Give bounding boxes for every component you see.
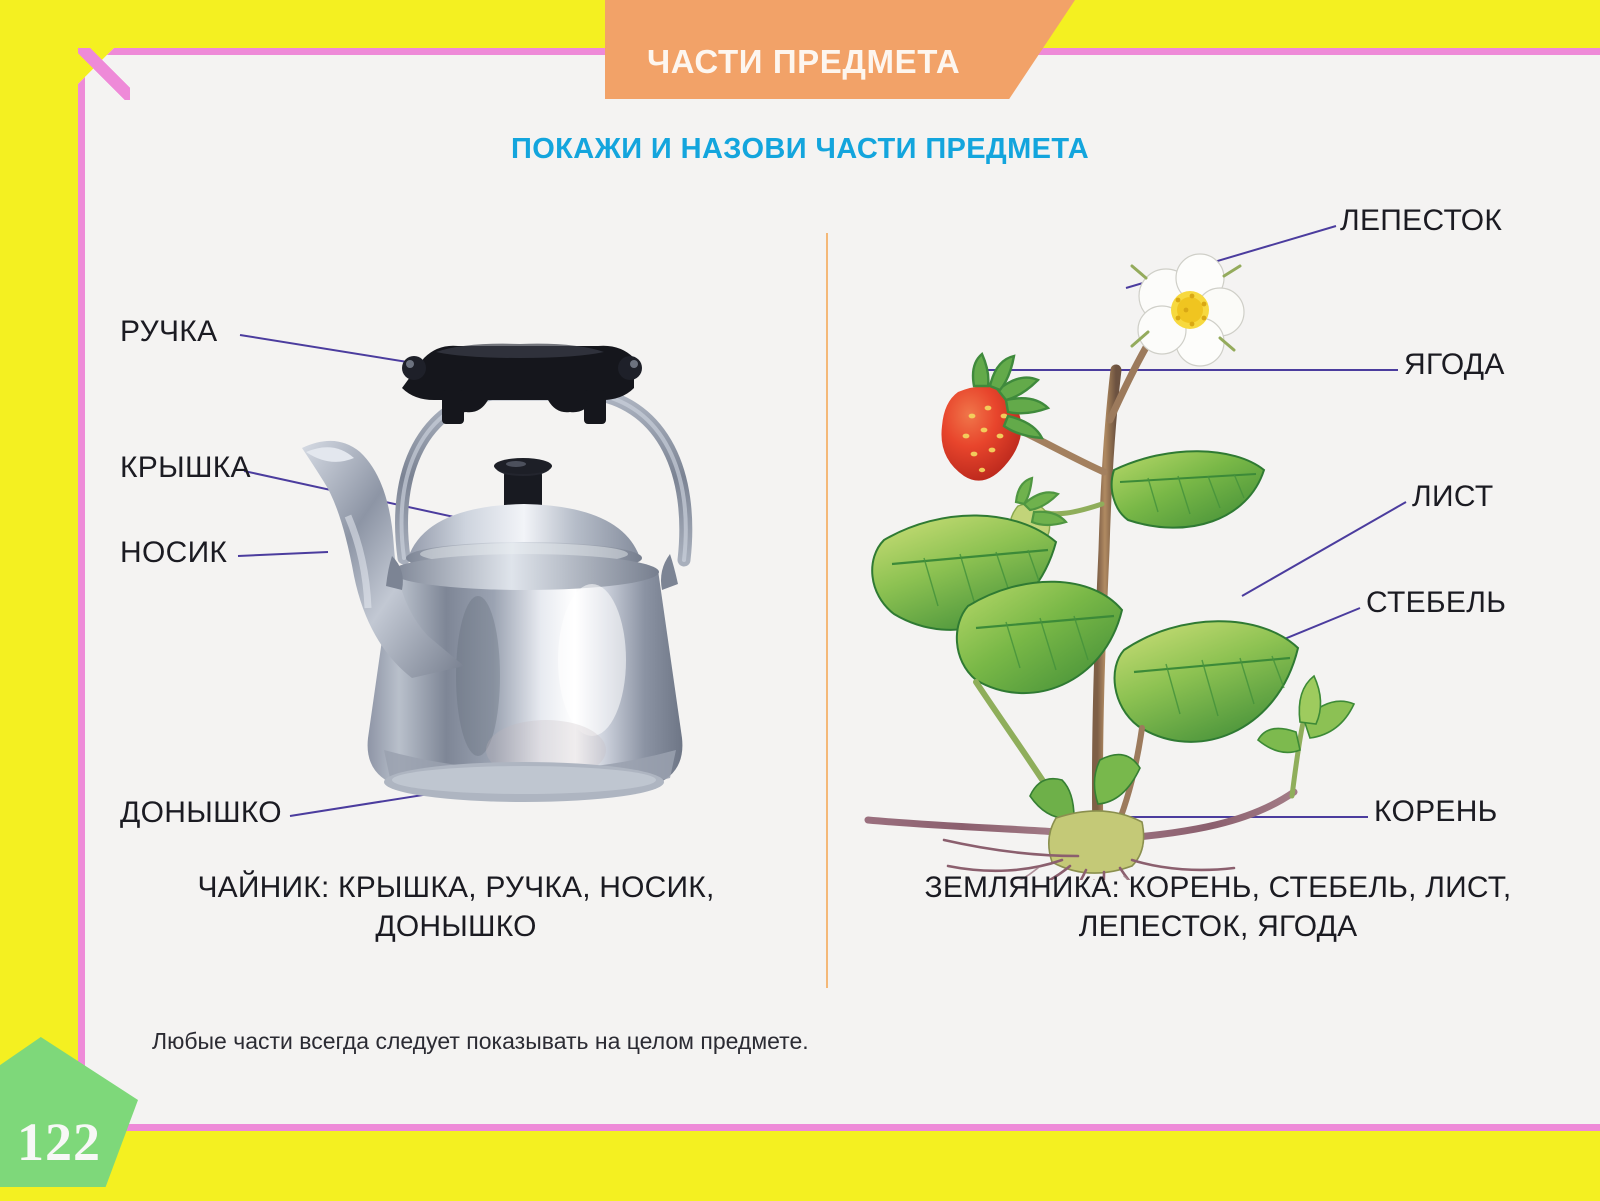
label-stem: СТЕБЕЛЬ <box>1366 586 1506 620</box>
page-subtitle: ПОКАЖИ И НАЗОВИ ЧАСТИ ПРЕДМЕТА <box>0 133 1600 166</box>
strawberry-illustration <box>848 220 1368 880</box>
kettle-caption-line2: ДОНЫШКО <box>96 907 816 946</box>
label-root: КОРЕНЬ <box>1374 795 1498 829</box>
corner-chamfer-line <box>78 48 130 100</box>
footnote-text: Любые части всегда следует показывать на… <box>152 1028 809 1055</box>
header-banner: ЧАСТИ ПРЕДМЕТА <box>605 0 1075 99</box>
label-leaf: ЛИСТ <box>1412 480 1493 514</box>
berry <box>941 354 1048 481</box>
panel-divider <box>826 233 828 988</box>
label-lid: КРЫШКА <box>120 451 251 485</box>
label-berry: ЯГОДА <box>1404 348 1505 382</box>
kettle-caption-line1: ЧАЙНИК: КРЫШКА, РУЧКА, НОСИК, <box>96 868 816 907</box>
plant-caption: ЗЕМЛЯНИКА: КОРЕНЬ, СТЕБЕЛЬ, ЛИСТ, ЛЕПЕСТ… <box>838 868 1598 946</box>
label-spout: НОСИК <box>120 536 227 570</box>
kettle-illustration <box>296 320 776 840</box>
page-background: ЧАСТИ ПРЕДМЕТА ПОКАЖИ И НАЗОВИ ЧАСТИ ПРЕ… <box>0 0 1600 1201</box>
page-number: 122 <box>0 1111 101 1187</box>
label-petal: ЛЕПЕСТОК <box>1340 204 1502 238</box>
header-title: ЧАСТИ ПРЕДМЕТА <box>605 43 960 99</box>
label-handle: РУЧКА <box>120 315 217 349</box>
plant-caption-line2: ЛЕПЕСТОК, ЯГОДА <box>838 907 1598 946</box>
plant-caption-line1: ЗЕМЛЯНИКА: КОРЕНЬ, СТЕБЕЛЬ, ЛИСТ, <box>838 868 1598 907</box>
leaf-upper-right <box>1112 451 1264 527</box>
flower <box>1132 254 1244 366</box>
label-bottom: ДОНЫШКО <box>120 796 282 830</box>
kettle-caption: ЧАЙНИК: КРЫШКА, РУЧКА, НОСИК, ДОНЫШКО <box>96 868 816 946</box>
